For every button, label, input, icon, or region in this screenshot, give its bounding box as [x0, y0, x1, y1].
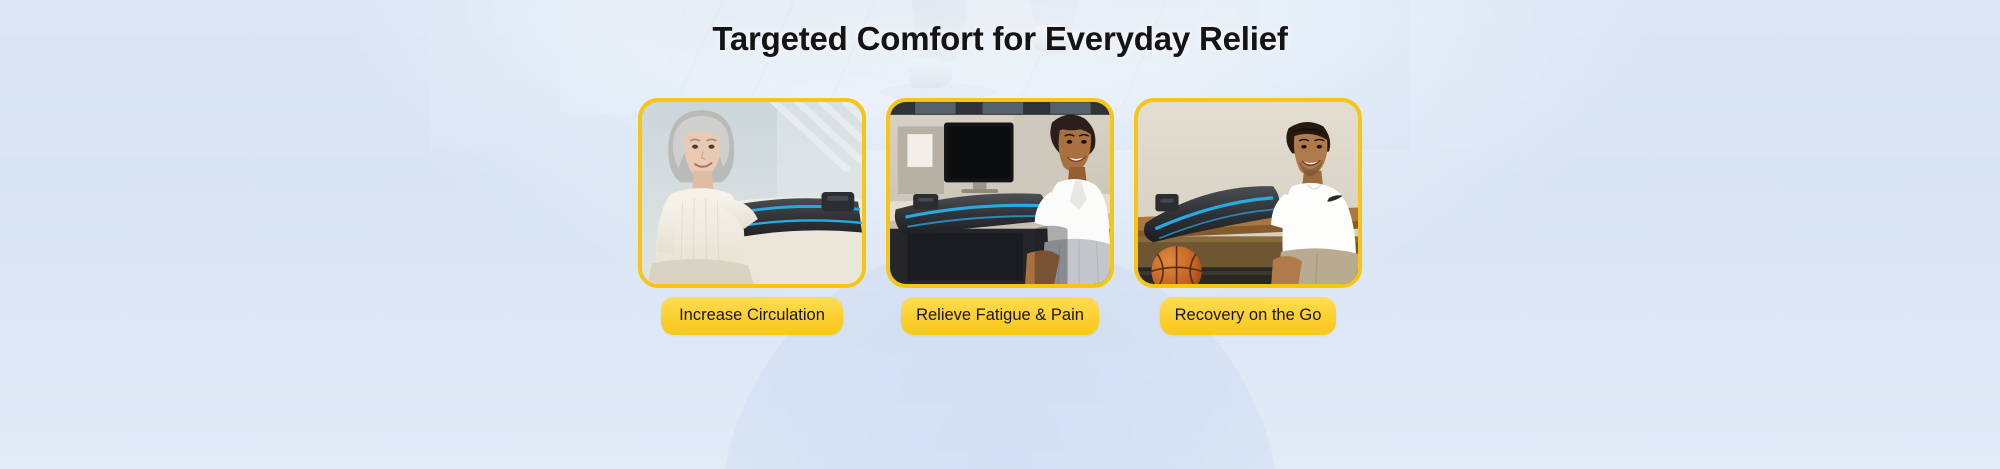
card-photo-living-room — [642, 102, 862, 284]
card-photo-gym — [1138, 102, 1358, 284]
benefit-card-increase-circulation[interactable]: Increase Circulation — [638, 98, 866, 335]
card-image-frame — [638, 98, 866, 288]
card-image-frame — [886, 98, 1114, 288]
page-title: Targeted Comfort for Everyday Relief — [0, 20, 2000, 58]
benefit-card-recovery-on-the-go[interactable]: Recovery on the Go — [1134, 98, 1362, 335]
card-label-pill[interactable]: Recovery on the Go — [1160, 297, 1337, 335]
card-photo-office — [890, 102, 1110, 284]
benefit-card-relieve-fatigue-pain[interactable]: Relieve Fatigue & Pain — [886, 98, 1114, 335]
promo-banner: Targeted Comfort for Everyday Relief — [0, 0, 2000, 469]
benefit-card-row: Increase Circulation — [0, 98, 2000, 335]
card-image-frame — [1134, 98, 1362, 288]
card-label-pill[interactable]: Relieve Fatigue & Pain — [901, 297, 1099, 335]
card-label-pill[interactable]: Increase Circulation — [661, 297, 843, 335]
